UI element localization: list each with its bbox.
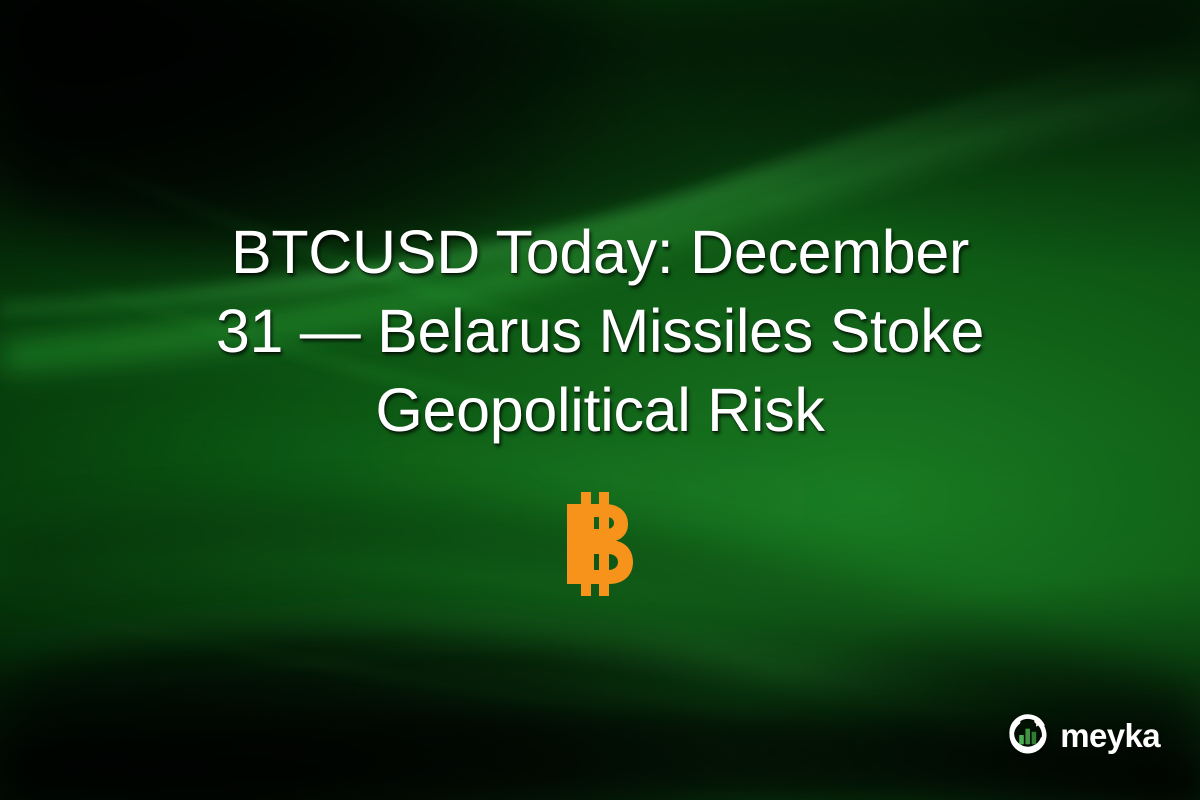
brand-logo: meyka (1005, 712, 1160, 758)
brand-name-label: meyka (1060, 719, 1160, 752)
bitcoin-icon (561, 492, 639, 596)
meyka-circular-bar-chart-icon (1005, 712, 1051, 758)
headline-title: BTCUSD Today: December 31 — Belarus Miss… (60, 213, 1140, 451)
banner-content: BTCUSD Today: December 31 — Belarus Miss… (0, 0, 1200, 800)
bitcoin-symbol-wrap (0, 492, 1200, 596)
share-banner-canvas: BTCUSD Today: December 31 — Belarus Miss… (0, 0, 1200, 800)
